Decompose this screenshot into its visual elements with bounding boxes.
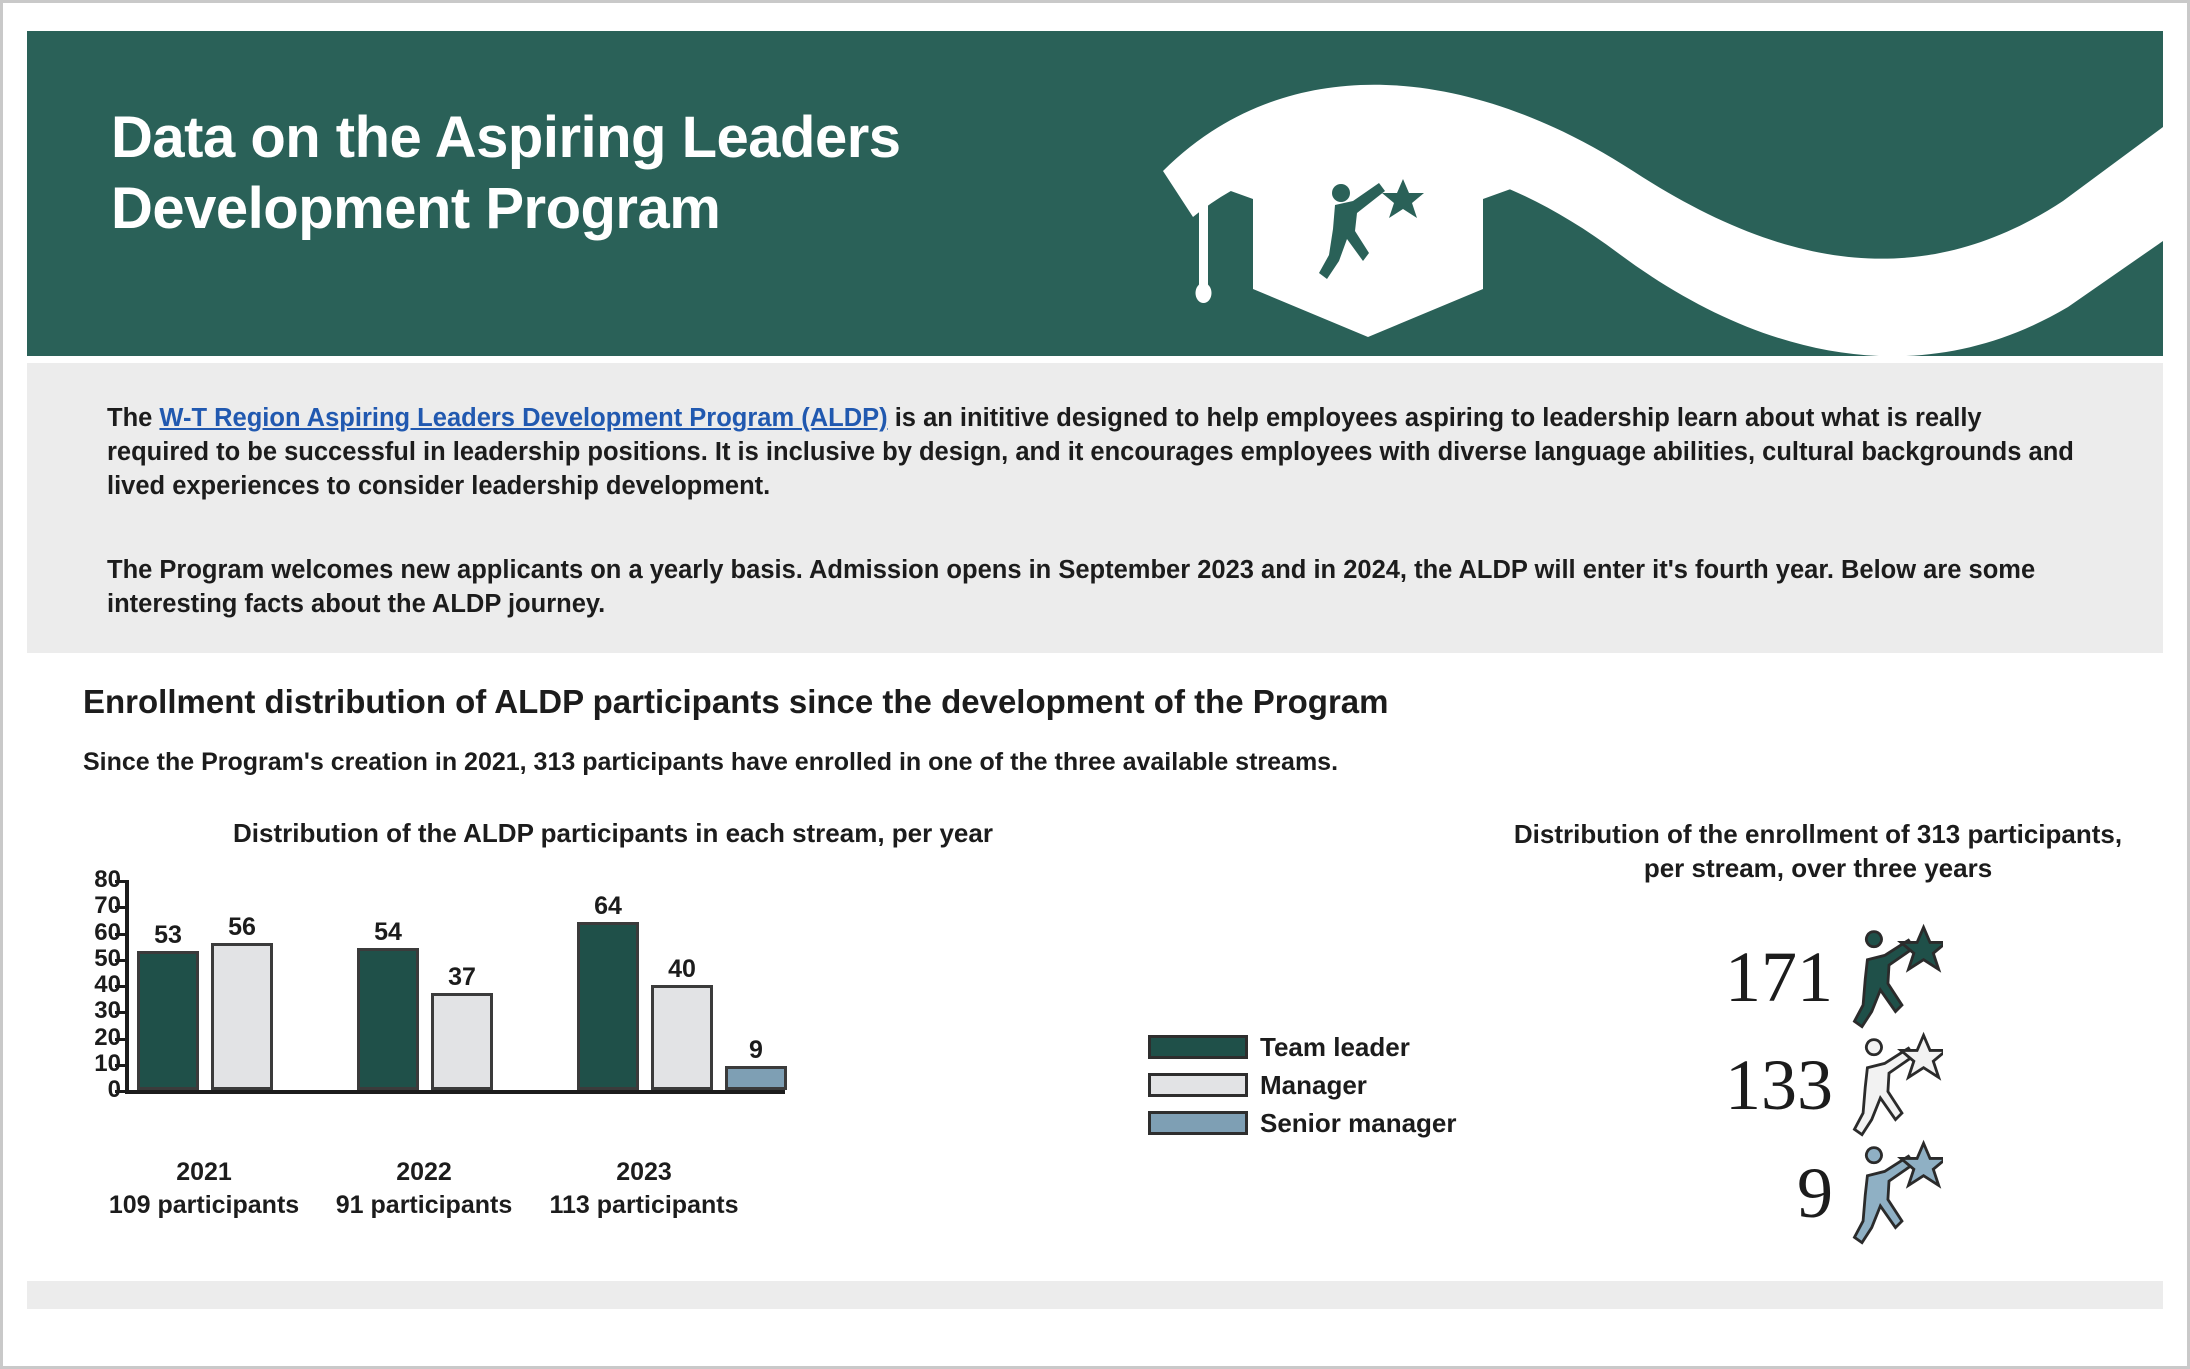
- x-group-participants: 109 participants: [99, 1189, 309, 1222]
- y-tick-label: 0: [69, 1078, 121, 1102]
- infographic-row: 133: [1513, 1031, 2123, 1139]
- bar-value-label: 53: [154, 921, 182, 950]
- legend-swatch: [1148, 1111, 1248, 1135]
- x-group-participants: 113 participants: [539, 1189, 749, 1222]
- runner-reaching-star-icon: [1835, 923, 1943, 1031]
- x-group-year: 2021: [99, 1156, 309, 1189]
- page-header: Data on the Aspiring Leaders Development…: [27, 31, 2163, 356]
- section-heading: Enrollment distribution of ALDP particip…: [83, 683, 1388, 721]
- chart-bar: 56: [211, 943, 273, 1090]
- legend-swatch: [1148, 1073, 1248, 1097]
- infographic-title: Distribution of the enrollment of 313 pa…: [1513, 818, 2123, 886]
- legend-label: Manager: [1260, 1070, 1367, 1101]
- intro-text-before-link: The: [107, 404, 159, 432]
- x-group-participants: 91 participants: [319, 1189, 529, 1222]
- infographic-row: 9: [1513, 1139, 2123, 1247]
- infographic-row: 171: [1513, 923, 2123, 1031]
- x-group-label: 2023113 participants: [539, 1156, 749, 1222]
- y-tick-label: 50: [69, 947, 121, 971]
- chart-bar: 40: [651, 985, 713, 1090]
- runner-reaching-star-icon: [1835, 1031, 1943, 1139]
- chart-bars: 5356543764409: [129, 880, 789, 1090]
- y-tick-label: 40: [69, 973, 121, 997]
- intro-paragraph-2: The Program welcomes new applicants on a…: [107, 553, 2087, 621]
- y-tick-label: 10: [69, 1052, 121, 1076]
- y-tick-label: 60: [69, 921, 121, 945]
- x-axis-line: [125, 1090, 785, 1094]
- legend-swatch: [1148, 1035, 1248, 1059]
- y-tick-label: 80: [69, 868, 121, 892]
- intro-band: The W-T Region Aspiring Leaders Developm…: [27, 363, 2163, 653]
- chart-bar: 54: [357, 948, 419, 1090]
- aldp-program-link[interactable]: W-T Region Aspiring Leaders Development …: [159, 404, 887, 432]
- document-page: Data on the Aspiring Leaders Development…: [0, 0, 2190, 1369]
- bar-value-label: 9: [749, 1036, 763, 1065]
- page-title: Data on the Aspiring Leaders Development…: [111, 103, 1131, 245]
- infographic-value: 171: [1725, 941, 1833, 1013]
- chart-plot-area: 80706050403020100 5356543764409: [63, 880, 1083, 1140]
- bar-value-label: 56: [228, 913, 256, 942]
- legend-label: Team leader: [1260, 1032, 1410, 1063]
- stream-totals-infographic: Distribution of the enrollment of 313 pa…: [1513, 818, 2123, 1238]
- x-group-year: 2022: [319, 1156, 529, 1189]
- infographic-value: 133: [1725, 1049, 1833, 1121]
- infographic-value: 9: [1797, 1157, 1833, 1229]
- intro-paragraph-1: The W-T Region Aspiring Leaders Developm…: [107, 401, 2087, 503]
- x-group-label: 2021109 participants: [99, 1156, 309, 1222]
- bottom-band: [27, 1281, 2163, 1309]
- chart-bar: 9: [725, 1066, 787, 1090]
- runner-reaching-star-icon: [1835, 1139, 1943, 1247]
- header-artwork: [1163, 31, 2163, 356]
- chart-title: Distribution of the ALDP participants in…: [173, 818, 1053, 849]
- y-tick-label: 70: [69, 894, 121, 918]
- chart-bar: 53: [137, 951, 199, 1090]
- infographic-rows: 1711339: [1513, 923, 2123, 1247]
- chart-bar: 37: [431, 993, 493, 1090]
- bar-value-label: 40: [668, 955, 696, 984]
- x-group-label: 202291 participants: [319, 1156, 529, 1222]
- bar-value-label: 54: [374, 918, 402, 947]
- bar-value-label: 37: [448, 963, 476, 992]
- y-tick-label: 20: [69, 1026, 121, 1050]
- bar-value-label: 64: [594, 892, 622, 921]
- section-subheading: Since the Program's creation in 2021, 31…: [83, 748, 1338, 777]
- y-tick-label: 30: [69, 999, 121, 1023]
- bar-chart: Distribution of the ALDP participants in…: [63, 818, 1083, 1238]
- chart-bar: 64: [577, 922, 639, 1090]
- legend-label: Senior manager: [1260, 1108, 1457, 1139]
- x-group-year: 2023: [539, 1156, 749, 1189]
- y-axis-tick-labels: 80706050403020100: [63, 880, 121, 1090]
